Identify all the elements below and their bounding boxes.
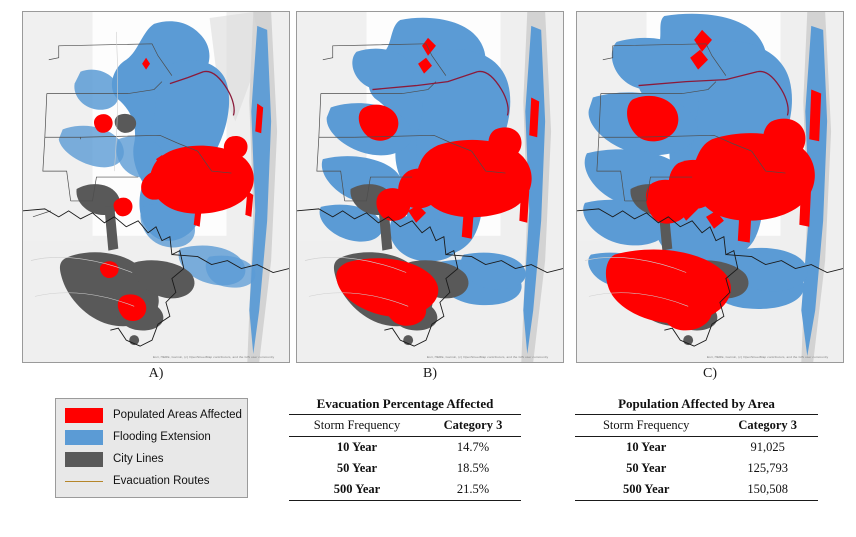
map-canvas-c[interactable] — [577, 12, 843, 362]
legend-label-city-lines: City Lines — [113, 453, 164, 465]
table-body-population-affected: 10 Year 91,025 50 Year 125,793 500 Year … — [575, 437, 818, 501]
legend-swatch-gray-icon — [65, 452, 103, 467]
legend-item-evacuation-routes: Evacuation Routes — [56, 470, 247, 492]
table-cell-pop-10-year: 91,025 — [717, 437, 818, 459]
table-population-affected-by-area: Population Affected by Area Storm Freque… — [575, 396, 818, 501]
legend-label-evacuation-routes: Evacuation Routes — [113, 475, 210, 487]
table-row: 50 Year 125,793 — [575, 458, 818, 479]
map-panel-row: Esri, HERE, Garmin, (c) OpenStreetMap co… — [0, 0, 856, 392]
map-panel-b[interactable]: Esri, HERE, Garmin, (c) OpenStreetMap co… — [296, 11, 564, 363]
table-col-category-3: Category 3 — [717, 415, 818, 437]
table-row: 10 Year 14.7% — [289, 437, 521, 459]
panel-label-a: A) — [22, 366, 290, 382]
table-cell-storm-10-year: 10 Year — [575, 437, 717, 459]
map-attribution-a: Esri, HERE, Garmin, (c) OpenStreetMap co… — [153, 355, 285, 359]
map-canvas-b[interactable] — [297, 12, 563, 362]
table-header-row: Storm Frequency Category 3 — [575, 415, 818, 437]
table-cell-storm-50-year: 50 Year — [289, 458, 425, 479]
map-attribution-c: Esri, HERE, Garmin, (c) OpenStreetMap co… — [707, 355, 839, 359]
table-head-evacuation-percentage: Storm Frequency Category 3 — [289, 415, 521, 437]
legend-item-flooding-extension: Flooding Extension — [56, 426, 247, 448]
table-cell-pop-50-year: 125,793 — [717, 458, 818, 479]
table-row: 50 Year 18.5% — [289, 458, 521, 479]
legend-label-populated-areas-affected: Populated Areas Affected — [113, 409, 242, 421]
table-title-evacuation-percentage: Evacuation Percentage Affected — [289, 396, 521, 415]
legend-swatch-blue-icon — [65, 430, 103, 445]
table-cell-pct-10-year: 14.7% — [425, 437, 521, 459]
table-head-population-affected: Storm Frequency Category 3 — [575, 415, 818, 437]
table-cell-storm-10-year: 10 Year — [289, 437, 425, 459]
table-cell-pct-500-year: 21.5% — [425, 479, 521, 501]
map-graphic-c — [577, 12, 843, 362]
table-cell-storm-500-year: 500 Year — [575, 479, 717, 501]
legend-swatch-red-icon — [65, 408, 103, 423]
table-cell-storm-50-year: 50 Year — [575, 458, 717, 479]
panel-label-c: C) — [576, 366, 844, 382]
table-evacuation-percentage-affected: Evacuation Percentage Affected Storm Fre… — [289, 396, 521, 501]
map-graphic-a — [23, 12, 289, 362]
table-col-storm-frequency: Storm Frequency — [575, 415, 717, 437]
map-graphic-b — [297, 12, 563, 362]
panel-label-b: B) — [296, 366, 564, 382]
map-legend: Populated Areas Affected Flooding Extens… — [55, 398, 248, 498]
map-canvas-a[interactable] — [23, 12, 289, 362]
map-attribution-b: Esri, HERE, Garmin, (c) OpenStreetMap co… — [427, 355, 559, 359]
table-cell-storm-500-year: 500 Year — [289, 479, 425, 501]
table-col-storm-frequency: Storm Frequency — [289, 415, 425, 437]
table-body-evacuation-percentage: 10 Year 14.7% 50 Year 18.5% 500 Year 21.… — [289, 437, 521, 501]
map-panel-c[interactable]: Esri, HERE, Garmin, (c) OpenStreetMap co… — [576, 11, 844, 363]
legend-item-city-lines: City Lines — [56, 448, 247, 470]
legend-swatch-line-icon — [65, 474, 103, 489]
table-title-population-affected: Population Affected by Area — [575, 396, 818, 415]
table-cell-pct-50-year: 18.5% — [425, 458, 521, 479]
table-row: 500 Year 21.5% — [289, 479, 521, 501]
table-row: 10 Year 91,025 — [575, 437, 818, 459]
table-header-row: Storm Frequency Category 3 — [289, 415, 521, 437]
table-col-category-3: Category 3 — [425, 415, 521, 437]
table-row: 500 Year 150,508 — [575, 479, 818, 501]
legend-item-populated-areas-affected: Populated Areas Affected — [56, 404, 247, 426]
map-panel-a[interactable]: Esri, HERE, Garmin, (c) OpenStreetMap co… — [22, 11, 290, 363]
table-cell-pop-500-year: 150,508 — [717, 479, 818, 501]
legend-label-flooding-extension: Flooding Extension — [113, 431, 211, 443]
